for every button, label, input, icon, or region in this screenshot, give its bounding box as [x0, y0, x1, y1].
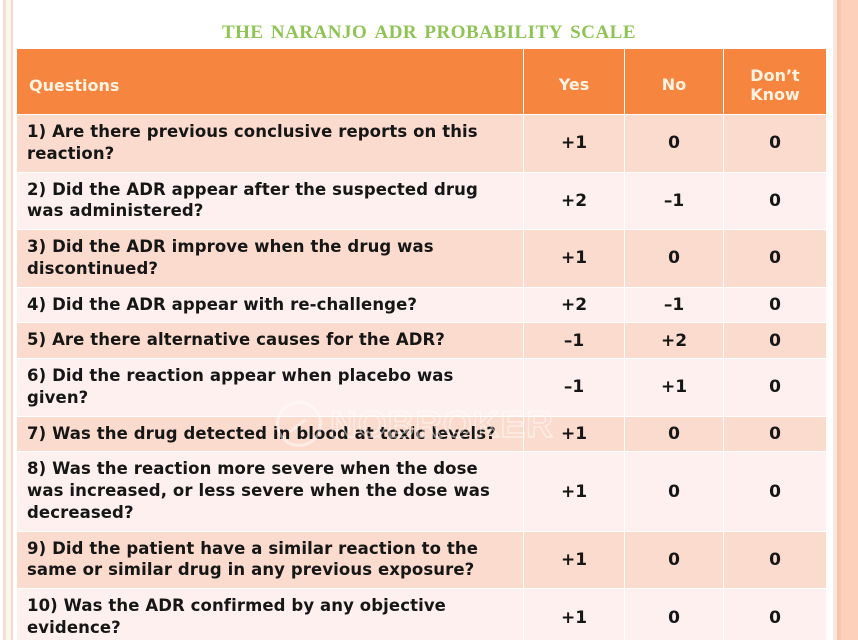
table-body: 1) Are there previous conclusive reports… — [17, 115, 827, 640]
question-text: 7) Was the drug detected in blood at tox… — [17, 416, 524, 452]
score-no: –1 — [625, 287, 724, 323]
table-row: 3) Did the ADR improve when the drug was… — [17, 230, 827, 288]
score-no: 0 — [625, 416, 724, 452]
question-text: 10) Was the ADR confirmed by any objecti… — [17, 589, 524, 640]
question-text: 3) Did the ADR improve when the drug was… — [17, 230, 524, 288]
table-row: 10) Was the ADR confirmed by any objecti… — [17, 589, 827, 640]
score-no: 0 — [625, 452, 724, 531]
score-yes: +1 — [524, 115, 625, 173]
score-yes: +2 — [524, 287, 625, 323]
table-row: 9) Did the patient have a similar reacti… — [17, 531, 827, 589]
page-edge-band-right — [830, 0, 858, 640]
question-text: 5) Are there alternative causes for the … — [17, 323, 524, 359]
column-header-dont-know-line1: Don’t — [750, 66, 799, 85]
score-dont-know: 0 — [724, 452, 827, 531]
table-row: 6) Did the reaction appear when placebo … — [17, 359, 827, 417]
score-yes: –1 — [524, 323, 625, 359]
column-header-dont-know-line2: Know — [750, 85, 800, 104]
table-row: 8) Was the reaction more severe when the… — [17, 452, 827, 531]
page-title: The Naranjo ADR Probability Scale — [0, 14, 858, 45]
column-header-dont-know: Don’t Know — [724, 49, 827, 115]
score-no: 0 — [625, 589, 724, 640]
score-dont-know: 0 — [724, 416, 827, 452]
slide-canvas: The Naranjo ADR Probability Scale Questi… — [0, 0, 858, 640]
score-dont-know: 0 — [724, 230, 827, 288]
table-row: 1) Are there previous conclusive reports… — [17, 115, 827, 173]
table-header-row: Questions Yes No Don’t Know — [17, 49, 827, 115]
question-text: 8) Was the reaction more severe when the… — [17, 452, 524, 531]
question-text: 2) Did the ADR appear after the suspecte… — [17, 172, 524, 230]
table-header: Questions Yes No Don’t Know — [17, 49, 827, 115]
score-dont-know: 0 — [724, 359, 827, 417]
score-yes: +1 — [524, 416, 625, 452]
table-row: 7) Was the drug detected in blood at tox… — [17, 416, 827, 452]
score-no: +1 — [625, 359, 724, 417]
score-dont-know: 0 — [724, 115, 827, 173]
score-yes: +1 — [524, 531, 625, 589]
score-dont-know: 0 — [724, 172, 827, 230]
column-header-no: No — [625, 49, 724, 115]
score-yes: –1 — [524, 359, 625, 417]
score-yes: +1 — [524, 589, 625, 640]
score-dont-know: 0 — [724, 589, 827, 640]
score-dont-know: 0 — [724, 323, 827, 359]
column-header-questions: Questions — [17, 49, 524, 115]
score-yes: +1 — [524, 230, 625, 288]
question-text: 4) Did the ADR appear with re-challenge? — [17, 287, 524, 323]
score-no: 0 — [625, 531, 724, 589]
table-row: 4) Did the ADR appear with re-challenge?… — [17, 287, 827, 323]
page-edge-band-left — [0, 0, 14, 640]
score-yes: +1 — [524, 452, 625, 531]
score-no: +2 — [625, 323, 724, 359]
column-header-yes: Yes — [524, 49, 625, 115]
question-text: 6) Did the reaction appear when placebo … — [17, 359, 524, 417]
score-no: 0 — [625, 115, 724, 173]
table-row: 5) Are there alternative causes for the … — [17, 323, 827, 359]
question-text: 9) Did the patient have a similar reacti… — [17, 531, 524, 589]
score-no: –1 — [625, 172, 724, 230]
table-row: 2) Did the ADR appear after the suspecte… — [17, 172, 827, 230]
score-dont-know: 0 — [724, 287, 827, 323]
score-no: 0 — [625, 230, 724, 288]
naranjo-scale-table: Questions Yes No Don’t Know 1) Are there… — [16, 48, 827, 640]
question-text: 1) Are there previous conclusive reports… — [17, 115, 524, 173]
score-yes: +2 — [524, 172, 625, 230]
score-dont-know: 0 — [724, 531, 827, 589]
